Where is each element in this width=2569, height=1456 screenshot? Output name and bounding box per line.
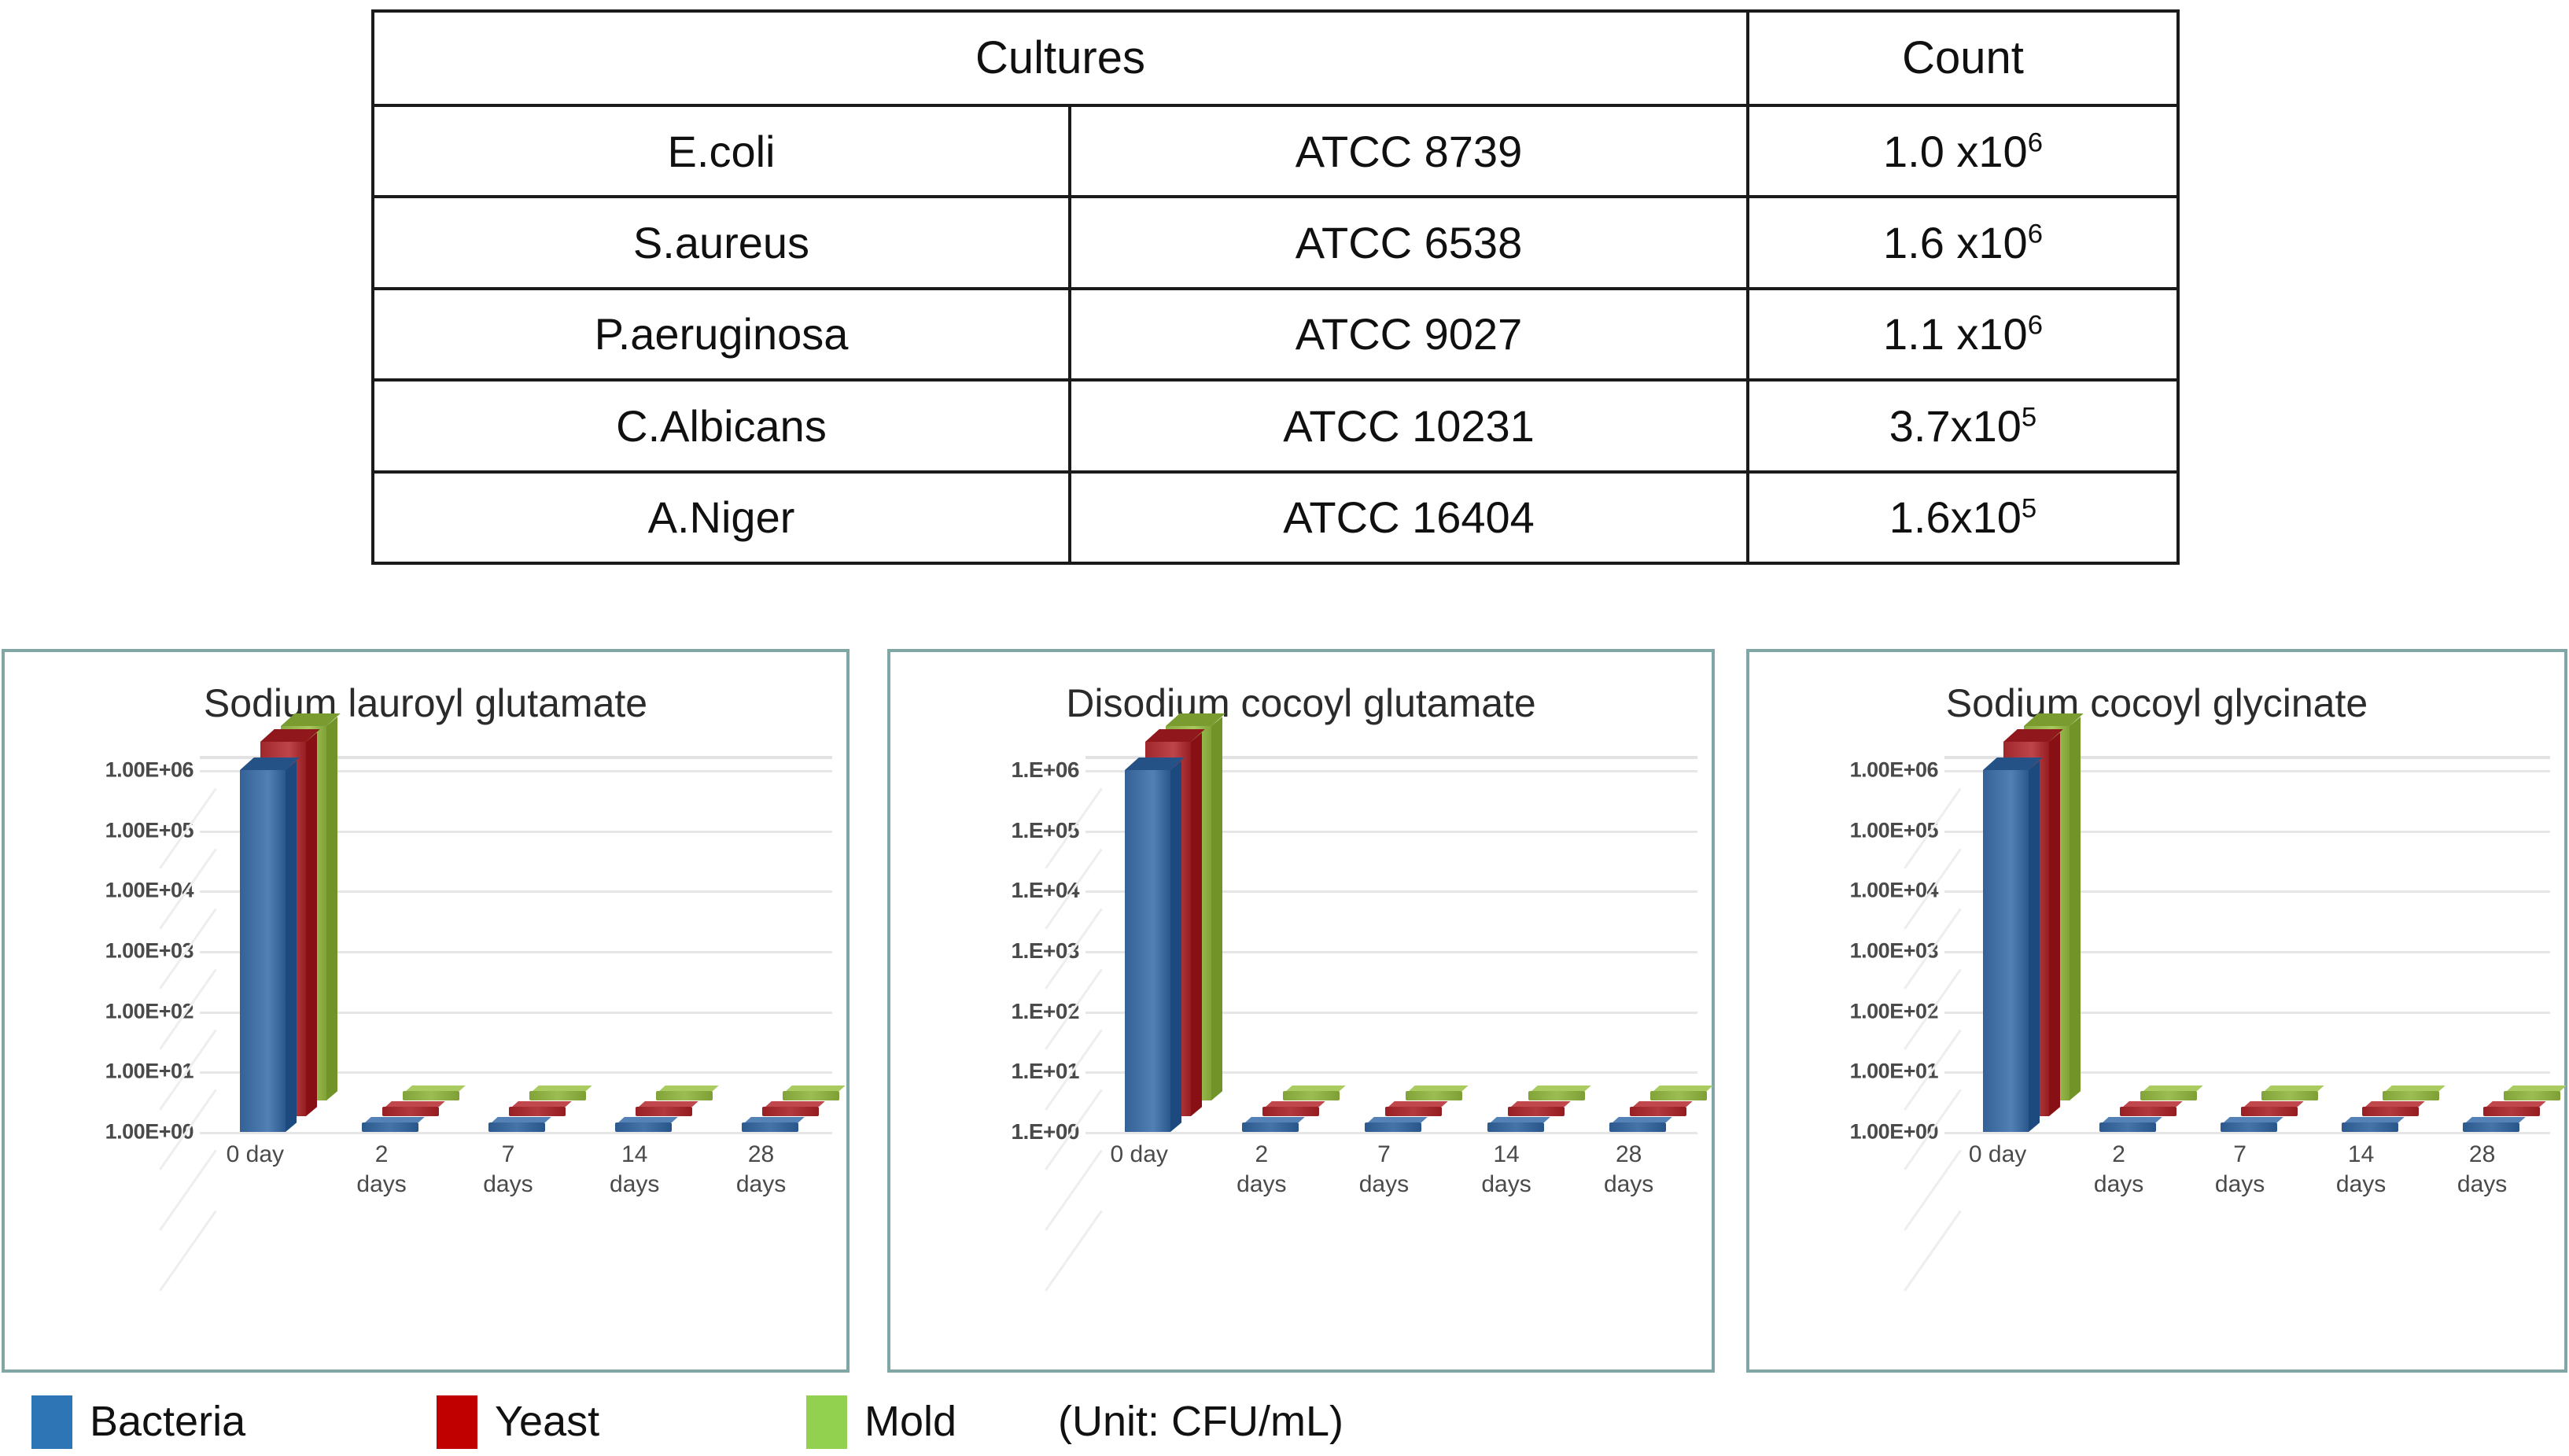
- y-axis-ticks: 1.E+061.E+051.E+041.E+031.E+021.E+011.E+…: [898, 770, 1079, 1132]
- flat-marker-bacteria: [2099, 1122, 2156, 1132]
- bar-side-face: [326, 717, 337, 1100]
- flat-marker-bacteria: [362, 1122, 418, 1132]
- flat-marker-bacteria: [1487, 1122, 1544, 1132]
- bar-side-face: [2049, 733, 2060, 1116]
- cell-culture-name: S.aureus: [373, 197, 1070, 288]
- y-tick-label: 1.00E+06: [1850, 758, 1938, 783]
- cell-count: 1.1 x106: [1748, 289, 2178, 380]
- legend-swatch-yeast: [437, 1395, 477, 1449]
- gridline: [200, 1132, 832, 1134]
- flat-marker-bacteria: [1242, 1122, 1299, 1132]
- legend-label: Yeast: [495, 1397, 599, 1446]
- flat-marker-yeast: [2483, 1107, 2540, 1116]
- x-tick-label: 14days: [2302, 1140, 2420, 1199]
- chart-panel-row: Sodium lauroyl glutamate1.00E+061.00E+05…: [0, 649, 2569, 1374]
- bar-side-face: [1191, 733, 1202, 1116]
- flat-marker-top: [1491, 1117, 1550, 1122]
- flat-marker-top: [2386, 1086, 2446, 1091]
- chart-panel-2: Sodium cocoyl glycinate1.00E+061.00E+051…: [1746, 649, 2567, 1373]
- flat-marker-bacteria: [1609, 1122, 1666, 1132]
- table-row: C.AlbicansATCC 102313.7x105: [373, 380, 2178, 471]
- flat-marker-top: [2507, 1086, 2567, 1091]
- flat-marker-mold: [1528, 1091, 1585, 1100]
- legend-label: Mold: [864, 1397, 956, 1446]
- cell-count: 3.7x105: [1748, 380, 2178, 471]
- flat-marker-top: [1409, 1086, 1469, 1091]
- flat-marker-top: [492, 1117, 551, 1122]
- chart-title: Sodium cocoyl glycinate: [1749, 680, 2564, 726]
- header-count: Count: [1748, 11, 2178, 105]
- cell-atcc: ATCC 16404: [1070, 472, 1748, 563]
- table-row: A.NigerATCC 164041.6x105: [373, 472, 2178, 563]
- flat-marker-mold: [529, 1091, 586, 1100]
- plot-area: 1.E+061.E+051.E+041.E+031.E+021.E+011.E+…: [890, 770, 1712, 1369]
- bar-side-face: [2029, 761, 2040, 1132]
- chart-panel-0: Sodium lauroyl glutamate1.00E+061.00E+05…: [2, 649, 850, 1373]
- flat-marker-yeast: [1508, 1107, 1565, 1116]
- flat-marker-top: [2103, 1117, 2162, 1122]
- cell-culture-name: E.coli: [373, 105, 1070, 197]
- flat-marker-top: [618, 1117, 678, 1122]
- flat-marker-top: [2123, 1101, 2183, 1107]
- flat-marker-bacteria: [2221, 1122, 2277, 1132]
- flat-marker-top: [1511, 1101, 1571, 1107]
- count-exponent: 5: [2022, 402, 2036, 432]
- flat-marker-top: [2265, 1086, 2324, 1091]
- bar-bacteria: [1125, 770, 1170, 1132]
- y-tick-label: 1.E+05: [1011, 818, 1079, 843]
- table-row: E.coliATCC 87391.0 x106: [373, 105, 2178, 197]
- flat-marker-top: [786, 1086, 846, 1091]
- flat-marker-top: [365, 1117, 425, 1122]
- flat-marker-top: [1388, 1101, 1448, 1107]
- table-header-row: CulturesCount: [373, 11, 2178, 105]
- x-tick-label: 7days: [449, 1140, 567, 1199]
- flat-marker-mold: [656, 1091, 713, 1100]
- legend-swatch-bacteria: [31, 1395, 72, 1449]
- y-tick-label: 1.E+03: [1011, 938, 1079, 964]
- flat-marker-top: [2466, 1117, 2526, 1122]
- y-tick-label: 1.E+01: [1011, 1059, 1079, 1084]
- bar-bacteria: [1983, 770, 2029, 1132]
- flat-marker-mold: [2140, 1091, 2197, 1100]
- bar-side-face: [1170, 761, 1181, 1132]
- gridline: [1085, 1132, 1697, 1134]
- shared-legend: BacteriaYeastMold (Unit: CFU/mL): [0, 1384, 2569, 1456]
- flat-marker-top: [512, 1101, 572, 1107]
- x-tick-label: 14days: [576, 1140, 694, 1199]
- bar-face: [1125, 770, 1170, 1132]
- chart-title: Disodium cocoyl glutamate: [890, 680, 1712, 726]
- flat-marker-mold: [2383, 1091, 2439, 1100]
- legend-unit-label: (Unit: CFU/mL): [1058, 1397, 1343, 1446]
- flat-marker-top: [1245, 1117, 1305, 1122]
- flat-marker-top: [2244, 1101, 2304, 1107]
- bar-bacteria: [240, 770, 286, 1132]
- flat-marker-yeast: [1630, 1107, 1686, 1116]
- bar-face: [1983, 770, 2029, 1132]
- x-axis-labels: 0 day2days7days14days28days: [200, 1140, 832, 1250]
- flat-marker-yeast: [1385, 1107, 1442, 1116]
- flat-marker-yeast: [509, 1107, 566, 1116]
- count-exponent: 5: [2022, 494, 2036, 524]
- flat-marker-yeast: [1262, 1107, 1319, 1116]
- bar-face: [240, 770, 286, 1132]
- flat-marker-top: [2143, 1086, 2203, 1091]
- bar-side-face: [1211, 717, 1222, 1100]
- flat-marker-top: [385, 1101, 445, 1107]
- x-tick-label: 7days: [1325, 1140, 1443, 1199]
- flat-marker-bacteria: [2342, 1122, 2398, 1132]
- header-cultures: Cultures: [373, 11, 1748, 105]
- x-tick-label: 7days: [2181, 1140, 2299, 1199]
- y-tick-label: 1.E+00: [1011, 1119, 1079, 1145]
- bar-group: [1944, 770, 2550, 1132]
- flat-marker-top: [2224, 1117, 2283, 1122]
- flat-marker-top: [1653, 1086, 1713, 1091]
- cell-culture-name: C.Albicans: [373, 380, 1070, 471]
- y-axis-ticks: 1.00E+061.00E+051.00E+041.00E+031.00E+02…: [13, 770, 194, 1132]
- x-tick-label: 2days: [1203, 1140, 1321, 1199]
- flat-marker-top: [1613, 1117, 1672, 1122]
- y-tick-label: 1.00E+06: [105, 758, 194, 783]
- x-tick-label: 0 day: [196, 1140, 314, 1170]
- y-tick-label: 1.E+04: [1011, 878, 1079, 903]
- legend-label: Bacteria: [90, 1397, 245, 1446]
- bar-side-face: [286, 761, 297, 1132]
- flat-marker-mold: [403, 1091, 459, 1100]
- flat-marker-bacteria: [488, 1122, 545, 1132]
- x-tick-label: 2days: [323, 1140, 440, 1199]
- flat-marker-top: [2486, 1101, 2546, 1107]
- x-tick-label: 0 day: [1080, 1140, 1198, 1170]
- flat-marker-mold: [783, 1091, 839, 1100]
- cell-culture-name: P.aeruginosa: [373, 289, 1070, 380]
- chart-panel-1: Disodium cocoyl glutamate1.E+061.E+051.E…: [887, 649, 1715, 1373]
- x-axis-labels: 0 day2days7days14days28days: [1944, 1140, 2550, 1250]
- flat-marker-mold: [1283, 1091, 1340, 1100]
- flat-marker-yeast: [2241, 1107, 2298, 1116]
- x-tick-label: 28days: [1570, 1140, 1688, 1199]
- flat-marker-mold: [2504, 1091, 2560, 1100]
- cell-count: 1.6x105: [1748, 472, 2178, 563]
- flat-marker-yeast: [2120, 1107, 2176, 1116]
- cell-atcc: ATCC 8739: [1070, 105, 1748, 197]
- flat-marker-top: [1286, 1086, 1346, 1091]
- flat-marker-top: [1531, 1086, 1591, 1091]
- table-row: P.aeruginosaATCC 90271.1 x106: [373, 289, 2178, 380]
- flat-marker-mold: [1650, 1091, 1707, 1100]
- cell-count: 1.6 x106: [1748, 197, 2178, 288]
- legend-swatch-mold: [806, 1395, 847, 1449]
- y-tick-label: 1.E+02: [1011, 999, 1079, 1024]
- flat-marker-top: [533, 1086, 592, 1091]
- flat-marker-mold: [2261, 1091, 2318, 1100]
- flat-marker-bacteria: [2463, 1122, 2519, 1132]
- x-tick-label: 28days: [702, 1140, 820, 1199]
- flat-marker-top: [745, 1117, 805, 1122]
- flat-marker-top: [2365, 1101, 2425, 1107]
- flat-marker-bacteria: [1365, 1122, 1421, 1132]
- flat-marker-top: [639, 1101, 698, 1107]
- flat-marker-mold: [1406, 1091, 1462, 1100]
- flat-marker-top: [1266, 1101, 1325, 1107]
- x-tick-label: 28days: [2423, 1140, 2541, 1199]
- flat-marker-top: [2345, 1117, 2405, 1122]
- x-tick-label: 2days: [2060, 1140, 2178, 1199]
- cell-atcc: ATCC 9027: [1070, 289, 1748, 380]
- count-exponent: 6: [2028, 127, 2043, 157]
- flat-marker-top: [1368, 1117, 1428, 1122]
- cell-atcc: ATCC 6538: [1070, 197, 1748, 288]
- flat-marker-bacteria: [615, 1122, 672, 1132]
- plot-area: 1.00E+061.00E+051.00E+041.00E+031.00E+02…: [1749, 770, 2564, 1369]
- cultures-count-table: CulturesCountE.coliATCC 87391.0 x106S.au…: [371, 9, 2180, 565]
- plot-area: 1.00E+061.00E+051.00E+041.00E+031.00E+02…: [5, 770, 846, 1369]
- cell-atcc: ATCC 10231: [1070, 380, 1748, 471]
- chart-title: Sodium lauroyl glutamate: [5, 680, 846, 726]
- y-axis-ticks: 1.00E+061.00E+051.00E+041.00E+031.00E+02…: [1757, 770, 1938, 1132]
- flat-marker-bacteria: [742, 1122, 798, 1132]
- flat-marker-top: [406, 1086, 466, 1091]
- bar-side-face: [2070, 717, 2081, 1100]
- flat-marker-top: [659, 1086, 719, 1091]
- bar-side-face: [306, 733, 317, 1116]
- bar-group: [200, 770, 832, 1132]
- table-row: S.aureusATCC 65381.6 x106: [373, 197, 2178, 288]
- x-tick-label: 0 day: [1939, 1140, 2057, 1170]
- flat-marker-top: [765, 1101, 825, 1107]
- x-axis-labels: 0 day2days7days14days28days: [1085, 1140, 1697, 1250]
- flat-marker-yeast: [382, 1107, 439, 1116]
- x-tick-label: 14days: [1447, 1140, 1565, 1199]
- flat-marker-top: [1633, 1101, 1693, 1107]
- gridline: [1944, 1132, 2550, 1134]
- cell-culture-name: A.Niger: [373, 472, 1070, 563]
- bar-group: [1085, 770, 1697, 1132]
- count-exponent: 6: [2028, 219, 2043, 249]
- flat-marker-yeast: [636, 1107, 692, 1116]
- count-exponent: 6: [2028, 311, 2043, 341]
- flat-marker-yeast: [762, 1107, 819, 1116]
- flat-marker-yeast: [2362, 1107, 2419, 1116]
- cell-count: 1.0 x106: [1748, 105, 2178, 197]
- y-tick-label: 1.E+06: [1011, 757, 1079, 783]
